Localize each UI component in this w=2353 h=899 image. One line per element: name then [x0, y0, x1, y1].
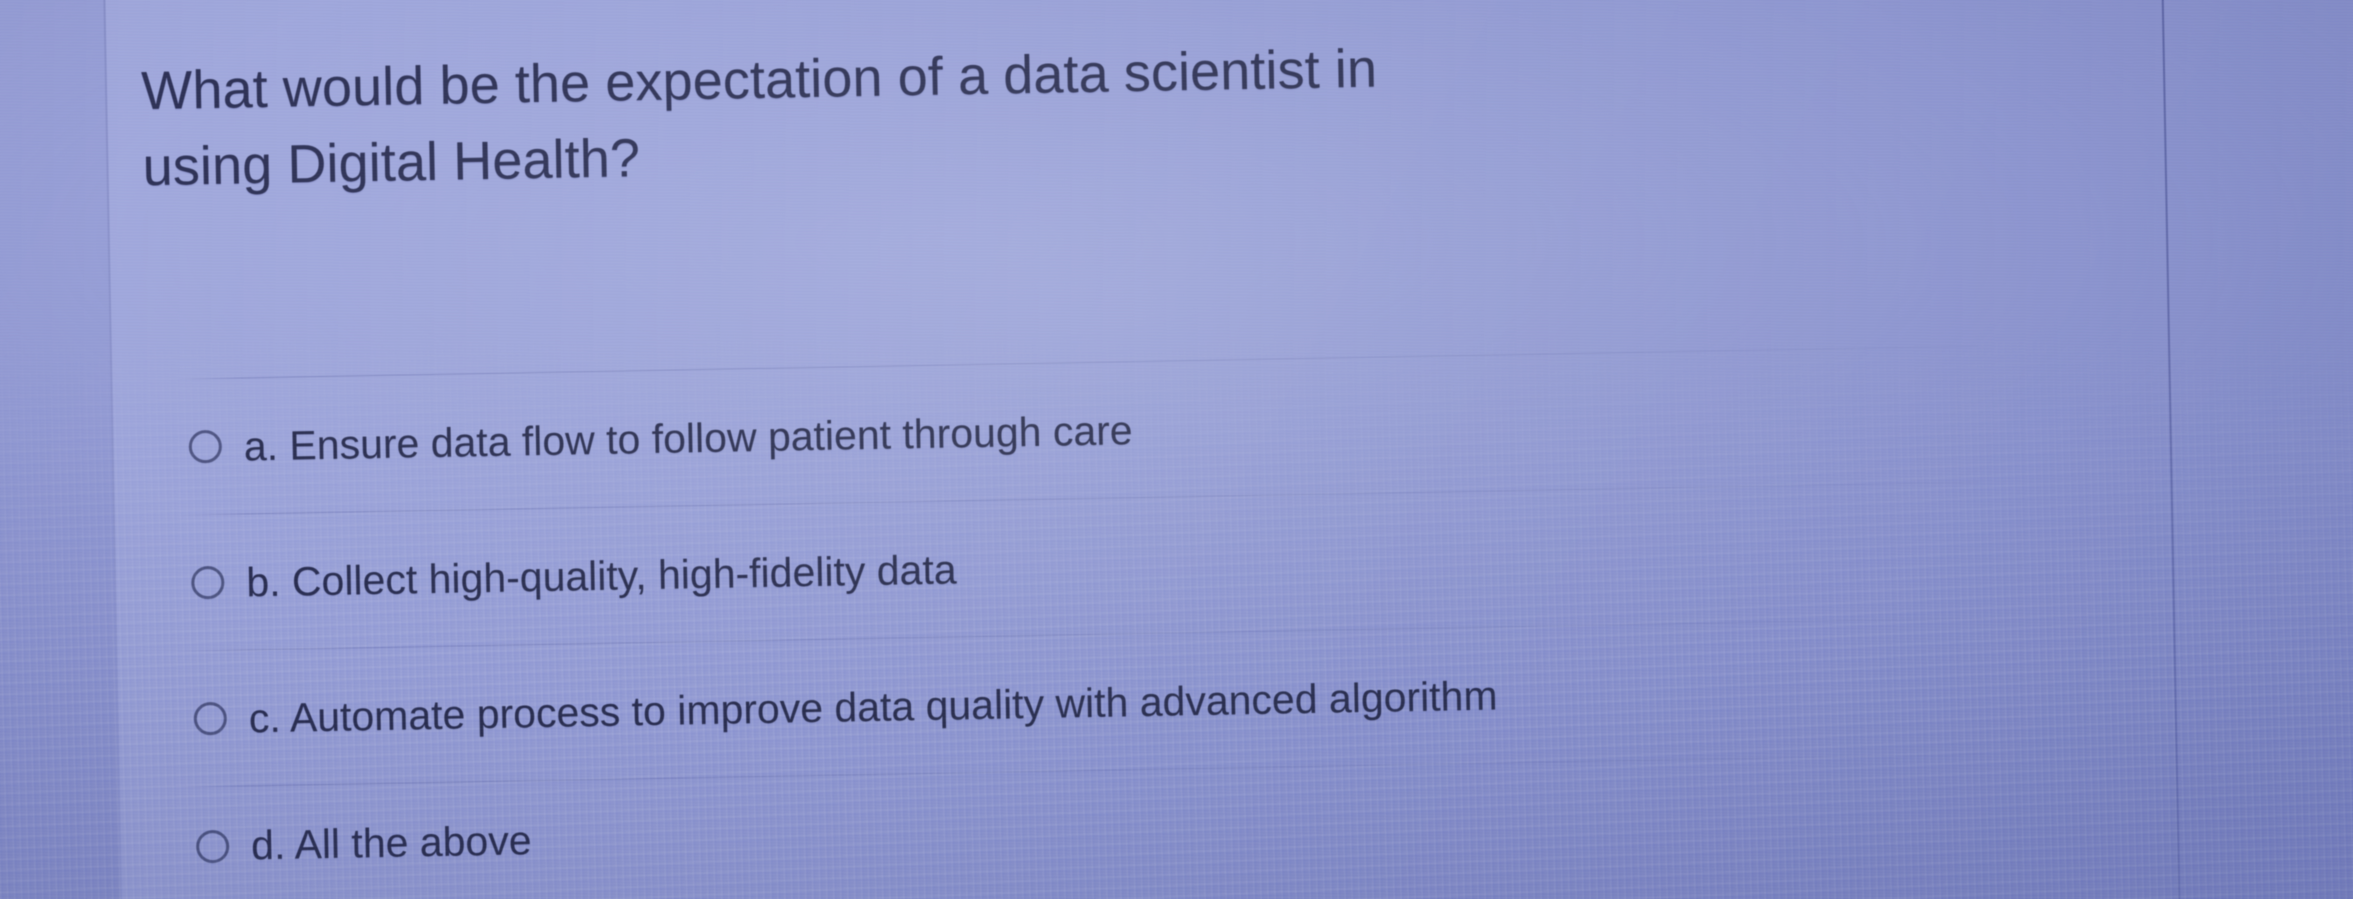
- question-text: What would be the expectation of a data …: [141, 30, 1424, 205]
- radio-unchecked-icon[interactable]: [189, 430, 223, 464]
- quiz-content: What would be the expectation of a data …: [0, 0, 2353, 899]
- answer-options-list: a. Ensure data flow to follow patient th…: [174, 346, 1988, 899]
- screenshot-root: What would be the expectation of a data …: [0, 0, 2353, 899]
- option-label-b: b. Collect high-quality, high-fidelity d…: [246, 546, 957, 605]
- radio-unchecked-icon[interactable]: [194, 702, 228, 736]
- radio-unchecked-icon[interactable]: [191, 566, 225, 600]
- option-label-a: a. Ensure data flow to follow patient th…: [243, 407, 1133, 469]
- option-label-d: d. All the above: [251, 817, 532, 868]
- option-label-c: c. Automate process to improve data qual…: [248, 672, 1498, 741]
- radio-unchecked-icon[interactable]: [196, 829, 230, 863]
